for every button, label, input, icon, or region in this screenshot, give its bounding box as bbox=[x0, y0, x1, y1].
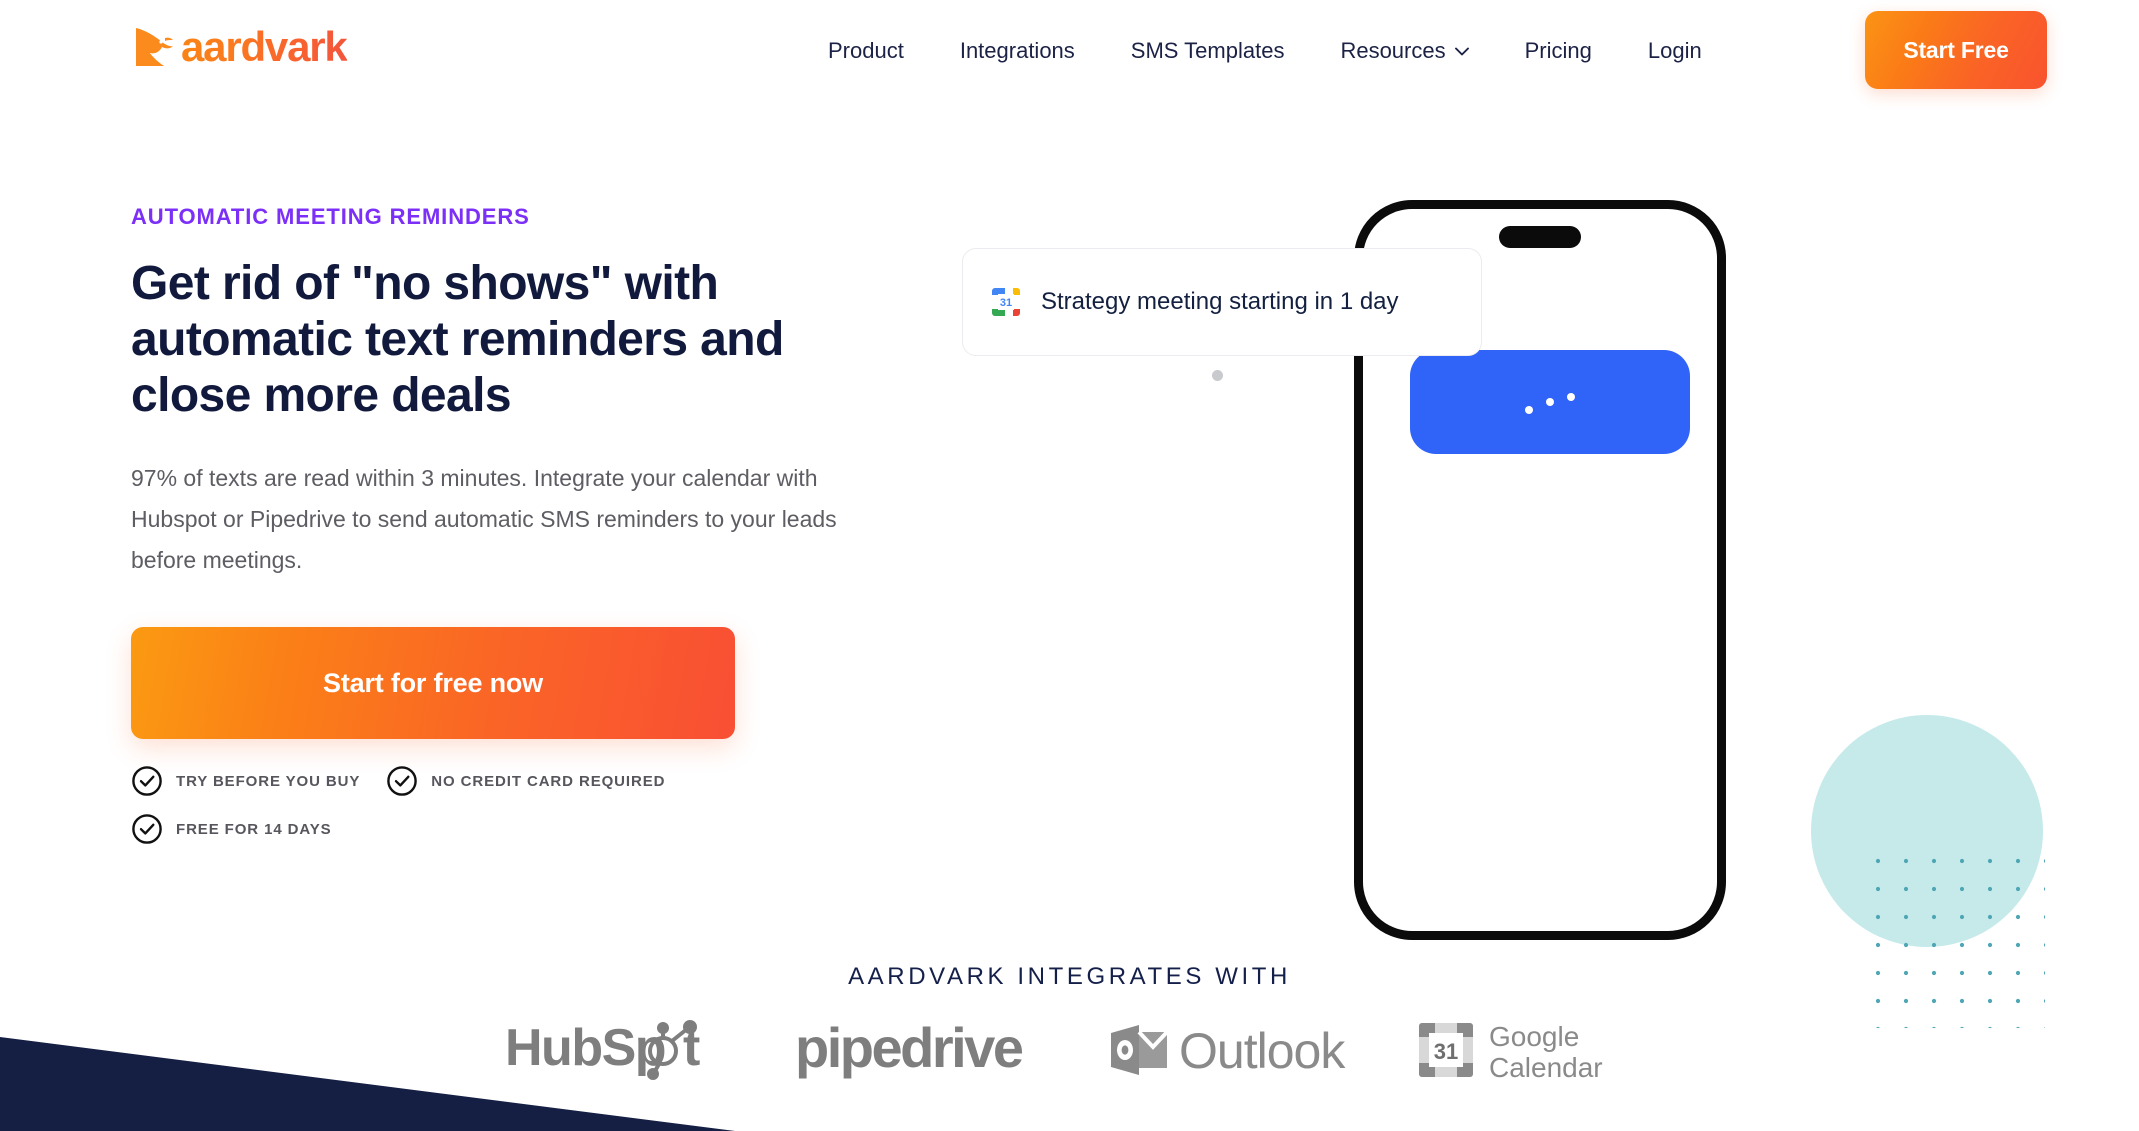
typing-dot-3 bbox=[1567, 393, 1575, 401]
svg-text:Outlook: Outlook bbox=[1179, 1023, 1346, 1079]
nav-item-product[interactable]: Product bbox=[800, 40, 932, 62]
svg-text:Google: Google bbox=[1489, 1021, 1579, 1052]
integration-logo-row: HubSp t pipedrive Outlook bbox=[0, 1015, 2139, 1085]
brand-logo[interactable]: aardvark bbox=[131, 25, 347, 69]
svg-text:Calendar: Calendar bbox=[1489, 1052, 1603, 1083]
notification-card[interactable]: 31 Strategy meeting starting in 1 day bbox=[962, 248, 1482, 356]
google-calendar-logo: 31 Google Calendar bbox=[1415, 1015, 1635, 1085]
benefit-list: TRY BEFORE YOU BUY NO CREDIT CARD REQUIR… bbox=[131, 765, 771, 845]
nav-item-sms-templates[interactable]: SMS Templates bbox=[1103, 40, 1313, 62]
nav-label: Resources bbox=[1340, 40, 1445, 62]
google-calendar-icon: 31 bbox=[991, 287, 1021, 317]
outlook-logo: Outlook bbox=[1105, 1019, 1357, 1081]
nav-item-resources[interactable]: Resources bbox=[1312, 40, 1496, 62]
hero-subcopy: 97% of texts are read within 3 minutes. … bbox=[131, 458, 881, 581]
benefit-item: FREE FOR 14 DAYS bbox=[131, 813, 332, 845]
benefit-label: TRY BEFORE YOU BUY bbox=[176, 774, 360, 789]
hero-eyebrow: AUTOMATIC MEETING REMINDERS bbox=[131, 206, 921, 228]
hero-copy: AUTOMATIC MEETING REMINDERS Get rid of "… bbox=[131, 206, 921, 845]
start-free-button[interactable]: Start Free bbox=[1865, 11, 2047, 89]
notification-text: Strategy meeting starting in 1 day bbox=[1041, 290, 1399, 314]
message-bubble-typing bbox=[1410, 350, 1690, 454]
page-title: Get rid of "no shows" with automatic tex… bbox=[131, 256, 861, 424]
chevron-down-icon bbox=[1455, 47, 1469, 56]
carousel-indicator-dot[interactable] bbox=[1212, 370, 1223, 381]
circle-check-icon bbox=[131, 813, 163, 845]
typing-dot-2 bbox=[1546, 398, 1554, 406]
nav-item-pricing[interactable]: Pricing bbox=[1497, 40, 1620, 62]
brand-name: aardvark bbox=[181, 26, 347, 68]
pipedrive-logo: pipedrive bbox=[795, 1019, 1047, 1081]
main-nav: Product Integrations SMS Templates Resou… bbox=[800, 0, 1730, 102]
hubspot-logo: HubSp t bbox=[505, 1019, 737, 1081]
benefit-item: TRY BEFORE YOU BUY bbox=[131, 765, 360, 797]
site-header: aardvark Product Integrations SMS Templa… bbox=[0, 0, 2139, 102]
benefit-label: NO CREDIT CARD REQUIRED bbox=[431, 774, 665, 789]
svg-text:HubSp: HubSp bbox=[505, 1019, 665, 1077]
benefit-item: NO CREDIT CARD REQUIRED bbox=[386, 765, 665, 797]
circle-check-icon bbox=[386, 765, 418, 797]
google-calendar-day: 31 bbox=[1433, 1039, 1457, 1064]
nav-label: Integrations bbox=[960, 40, 1075, 62]
circle-check-icon bbox=[131, 765, 163, 797]
nav-item-login[interactable]: Login bbox=[1620, 40, 1730, 62]
aardvark-head-icon bbox=[131, 25, 177, 69]
nav-label: Pricing bbox=[1525, 40, 1592, 62]
nav-label: SMS Templates bbox=[1131, 40, 1285, 62]
start-for-free-now-button[interactable]: Start for free now bbox=[131, 627, 735, 739]
integrations-title: AARDVARK INTEGRATES WITH bbox=[0, 965, 2139, 989]
svg-text:31: 31 bbox=[1000, 297, 1012, 309]
svg-text:pipedrive: pipedrive bbox=[795, 1019, 1023, 1079]
benefit-label: FREE FOR 14 DAYS bbox=[176, 822, 332, 837]
hero-visual: 31 Strategy meeting starting in 1 day bbox=[950, 190, 2139, 990]
typing-dot-1 bbox=[1525, 406, 1533, 414]
integrations-section: AARDVARK INTEGRATES WITH HubSp t pipedri… bbox=[0, 965, 2139, 1085]
nav-label: Product bbox=[828, 40, 904, 62]
nav-label: Login bbox=[1648, 40, 1702, 62]
dynamic-island bbox=[1499, 226, 1581, 248]
nav-item-integrations[interactable]: Integrations bbox=[932, 40, 1103, 62]
